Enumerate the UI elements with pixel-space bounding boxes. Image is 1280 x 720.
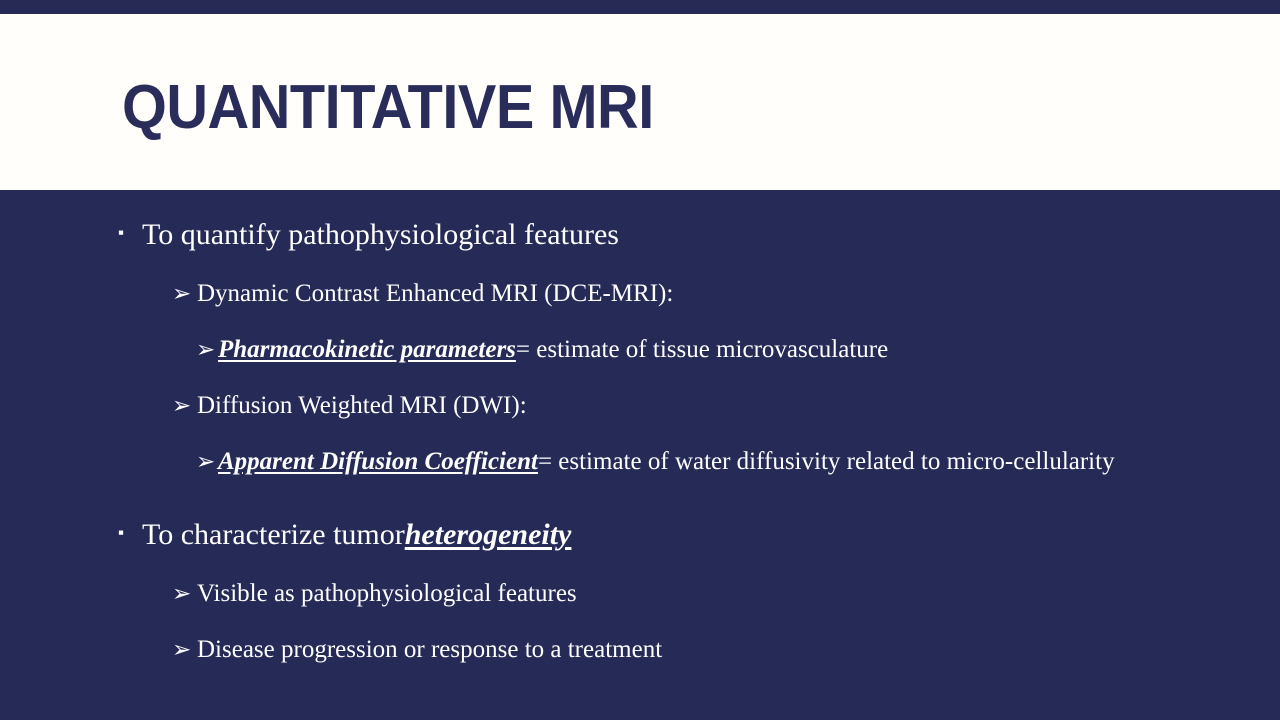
- list-item-emphasis: Apparent Diffusion Coefficient: [218, 447, 538, 477]
- title-band: QUANTITATIVE MRI: [0, 14, 1280, 190]
- list-item-label: Diffusion Weighted MRI (DWI):: [197, 391, 527, 421]
- arrow-bullet-icon: ➢: [196, 335, 218, 365]
- page-title: QUANTITATIVE MRI: [122, 71, 654, 145]
- square-bullet-icon: ▪: [118, 216, 142, 250]
- list-item: ➢ Diffusion Weighted MRI (DWI):: [172, 391, 527, 421]
- arrow-bullet-icon: ➢: [172, 279, 197, 309]
- square-bullet-icon: ▪: [118, 516, 142, 550]
- list-item-emphasis: heterogeneity: [405, 518, 572, 552]
- list-item: ➢ Pharmacokinetic parameters = estimate …: [196, 335, 888, 365]
- list-item-emphasis: Pharmacokinetic parameters: [218, 335, 516, 365]
- list-item-label: Visible as pathophysiological features: [197, 579, 577, 609]
- list-item-label: To quantify pathophysiological features: [142, 218, 619, 252]
- arrow-bullet-icon: ➢: [172, 635, 197, 665]
- list-item-label: Dynamic Contrast Enhanced MRI (DCE-MRI):: [197, 279, 673, 309]
- list-item: ➢ Apparent Diffusion Coefficient = estim…: [196, 447, 1115, 477]
- arrow-bullet-icon: ➢: [172, 579, 197, 609]
- list-item: ➢ Dynamic Contrast Enhanced MRI (DCE-MRI…: [172, 279, 673, 309]
- body-panel: ▪ To quantify pathophysiological feature…: [0, 190, 1280, 720]
- list-item: ➢ Visible as pathophysiological features: [172, 579, 577, 609]
- list-item: ➢ Disease progression or response to a t…: [172, 635, 662, 665]
- arrow-bullet-icon: ➢: [196, 447, 218, 477]
- list-item: ▪ To quantify pathophysiological feature…: [118, 218, 619, 256]
- list-item-label: To characterize tumor: [142, 518, 405, 552]
- top-accent-bar: [0, 0, 1280, 14]
- list-item-label: Disease progression or response to a tre…: [197, 635, 662, 665]
- list-item-label: = estimate of water diffusivity related …: [538, 447, 1115, 477]
- list-item-label: = estimate of tissue microvasculature: [516, 335, 888, 365]
- slide: QUANTITATIVE MRI ▪ To quantify pathophys…: [0, 0, 1280, 720]
- list-item: ▪ To characterize tumor heterogeneity: [118, 518, 571, 556]
- arrow-bullet-icon: ➢: [172, 391, 197, 421]
